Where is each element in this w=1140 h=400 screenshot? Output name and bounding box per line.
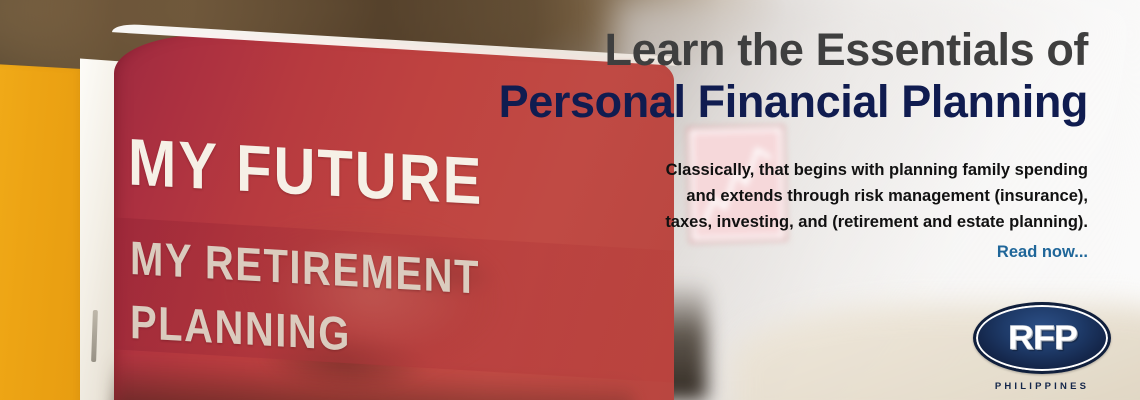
rfp-logo-oval: RFP <box>973 302 1111 374</box>
rfp-logo-mark: RFP <box>1008 321 1077 355</box>
body-copy-line-3: taxes, investing, and (retirement and es… <box>488 209 1088 235</box>
rfp-logo-subtitle: PHILIPPINES <box>972 381 1112 392</box>
book-page-left-yellow <box>0 63 84 400</box>
body-copy-line-2: and extends through risk management (ins… <box>488 183 1088 209</box>
headline-secondary: Personal Financial Planning <box>488 77 1088 127</box>
headline-primary: Learn the Essentials of <box>488 26 1088 75</box>
promo-banner: MY FUTURE MY RETIREMENT PLANNING Learn t… <box>0 0 1140 400</box>
promo-copy-block: Learn the Essentials of Personal Financi… <box>488 26 1088 262</box>
rfp-logo[interactable]: RFP PHILIPPINES <box>972 302 1112 392</box>
body-copy: Classically, that begins with planning f… <box>488 157 1088 235</box>
read-now-link[interactable]: Read now... <box>997 243 1088 262</box>
body-copy-line-1: Classically, that begins with planning f… <box>488 157 1088 183</box>
